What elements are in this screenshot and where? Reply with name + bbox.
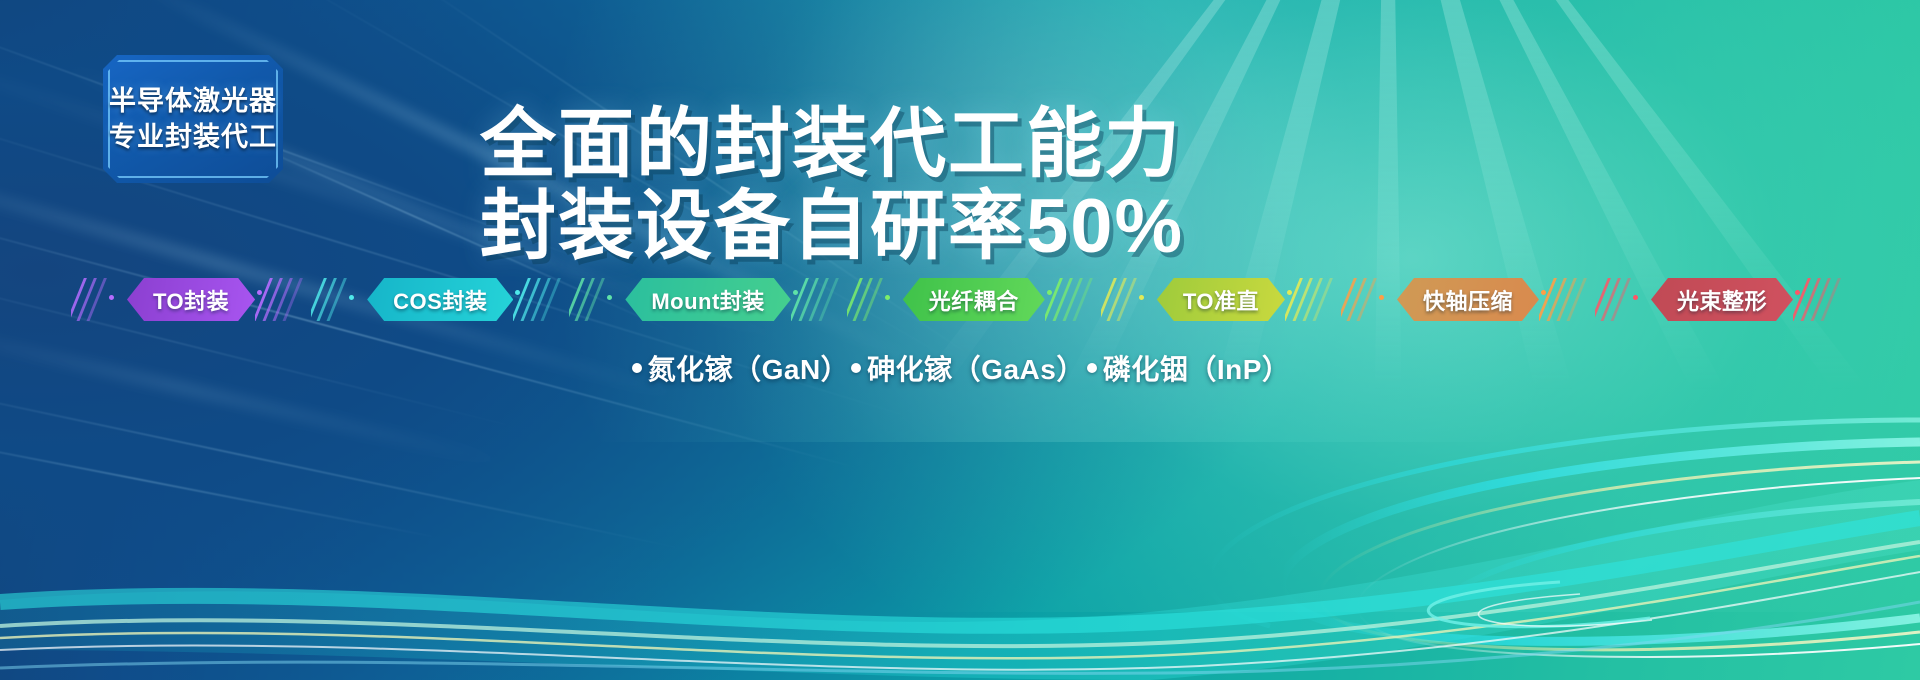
capability-tag-row: TO封装COS封装Mount封装光纤耦合TO准直快轴压缩光束整形 — [0, 278, 1920, 321]
bullet-dot-icon — [851, 363, 861, 373]
product-badge: 半导体激光器 专业封装代工 — [103, 55, 283, 183]
material-label: 氮化镓（GaN） — [648, 348, 850, 388]
badge-line-1: 半导体激光器 — [109, 86, 277, 116]
tag-slash-decor — [847, 278, 903, 321]
tag-slash-decor — [1595, 278, 1651, 321]
bullet-dot-icon — [1087, 363, 1097, 373]
light-ray — [0, 430, 440, 539]
tag-label-chip[interactable]: 快轴压缩 — [1397, 278, 1539, 321]
headline-line-1: 全面的封装代工能力 — [480, 104, 1420, 186]
tag-label: 光束整形 — [1677, 284, 1767, 316]
tag-slash-decor — [1793, 278, 1849, 321]
tag-slash-decor — [71, 278, 127, 321]
light-ray — [0, 320, 515, 469]
tag-label-chip[interactable]: 光纤耦合 — [903, 278, 1045, 321]
material-item-2: 砷化镓（GaAs） — [849, 348, 1085, 388]
material-label: 磷化铟（InP） — [1103, 348, 1291, 388]
tag-slash-decor — [569, 278, 625, 321]
material-item-3: 磷化铟（InP） — [1085, 348, 1291, 388]
light-ray — [0, 375, 692, 552]
material-label: 砷化镓（GaAs） — [867, 348, 1085, 388]
badge-line-2: 专业封装代工 — [109, 122, 277, 152]
headline-block: 全面的封装代工能力 封装设备自研率50% — [480, 104, 1420, 268]
tag-label: 快轴压缩 — [1423, 284, 1513, 316]
capability-tag-7[interactable]: 光束整形 — [1595, 278, 1849, 321]
tag-slash-decor — [1045, 278, 1101, 321]
material-list: 氮化镓（GaN）砷化镓（GaAs）磷化铟（InP） — [0, 348, 1920, 388]
promo-banner: 半导体激光器 专业封装代工 全面的封装代工能力 封装设备自研率50% TO封装C… — [0, 0, 1920, 680]
capability-tag-4[interactable]: 光纤耦合 — [847, 278, 1101, 321]
tag-label-chip[interactable]: TO准直 — [1157, 278, 1285, 321]
tag-label-chip[interactable]: 光束整形 — [1651, 278, 1793, 321]
tag-label: TO准直 — [1183, 284, 1259, 316]
tag-label: 光纤耦合 — [929, 284, 1019, 316]
tag-slash-decor — [1539, 278, 1595, 321]
tag-label: TO封装 — [153, 284, 229, 316]
material-item-1: 氮化镓（GaN） — [630, 348, 850, 388]
tag-slash-decor — [255, 278, 311, 321]
tag-label-chip[interactable]: TO封装 — [127, 278, 255, 321]
capability-tag-3[interactable]: Mount封装 — [569, 278, 846, 321]
tag-slash-decor — [1285, 278, 1341, 321]
capability-tag-5[interactable]: TO准直 — [1101, 278, 1341, 321]
tag-slash-decor — [513, 278, 569, 321]
tag-label: COS封装 — [393, 284, 487, 316]
tag-slash-decor — [1101, 278, 1157, 321]
tag-slash-decor — [791, 278, 847, 321]
tag-slash-decor — [1341, 278, 1397, 321]
bullet-dot-icon — [632, 363, 642, 373]
capability-tag-6[interactable]: 快轴压缩 — [1341, 278, 1595, 321]
tag-label-chip[interactable]: COS封装 — [367, 278, 513, 321]
tag-label-chip[interactable]: Mount封装 — [625, 278, 790, 321]
tag-slash-decor — [311, 278, 367, 321]
capability-tag-1[interactable]: TO封装 — [71, 278, 311, 321]
headline-line-2: 封装设备自研率50% — [480, 186, 1420, 268]
tag-label: Mount封装 — [651, 284, 764, 316]
capability-tag-2[interactable]: COS封装 — [311, 278, 569, 321]
bottom-swoosh-ribbons — [0, 350, 1920, 680]
